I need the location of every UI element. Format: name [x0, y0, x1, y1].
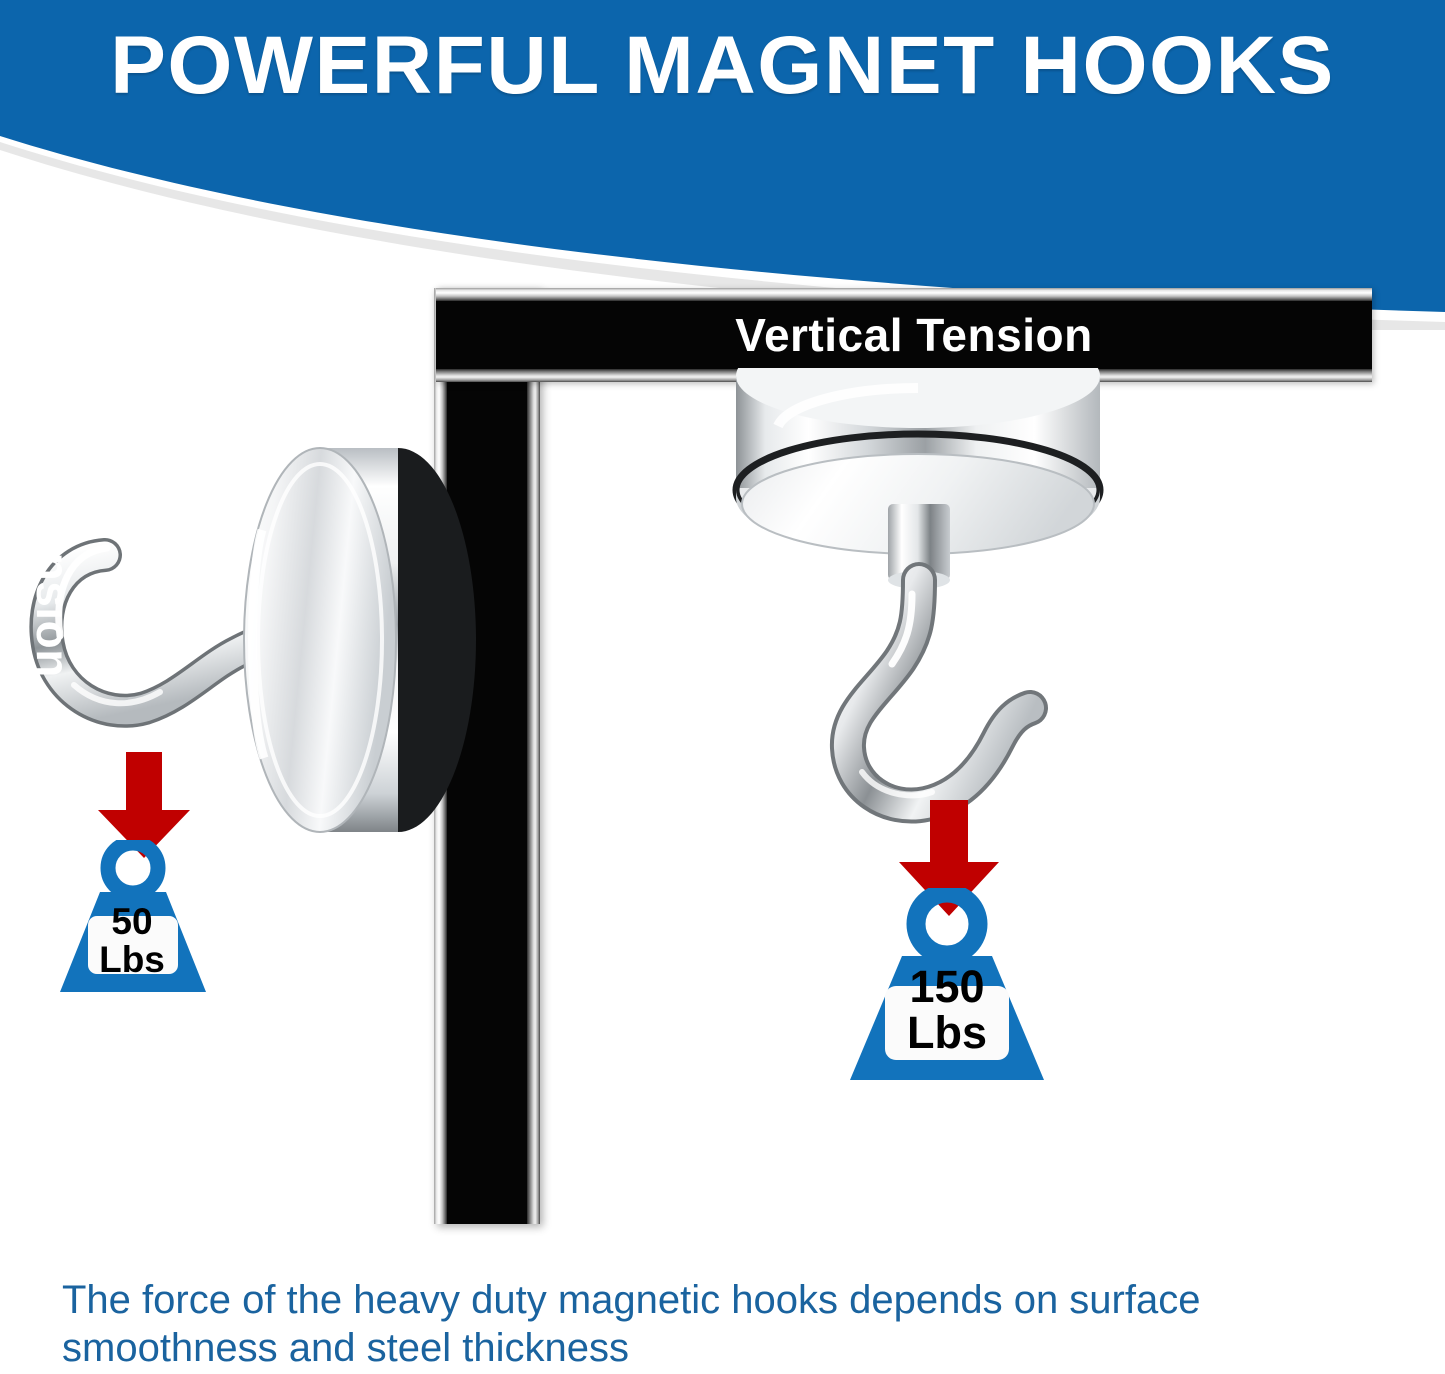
- left-weight-badge: 50 Lbs: [42, 840, 224, 1005]
- product-infographic: POWERFUL MAGNET HOOKS: [0, 0, 1445, 1374]
- footer-caption: The force of the heavy duty magnetic hoo…: [62, 1276, 1392, 1372]
- left-weight-text: 50 Lbs: [72, 898, 192, 984]
- right-weight-unit: Lbs: [907, 1010, 987, 1056]
- right-weight-badge: 150 Lbs: [828, 888, 1066, 1093]
- left-magnet-disc: [244, 448, 476, 832]
- right-weight-value: 150: [909, 964, 984, 1010]
- left-magnet-hook-assembly: [10, 440, 480, 865]
- right-weight-text: 150 Lbs: [871, 958, 1023, 1062]
- left-weight-value: 50: [111, 903, 152, 941]
- post-edge-right-highlight: [527, 288, 540, 1224]
- right-magnet-hook-assembly: [718, 368, 1118, 843]
- right-hook-wire: [848, 580, 1030, 806]
- diagram-scene: Vertical Tension Horizontal Tension: [0, 0, 1445, 1260]
- left-weight-unit: Lbs: [99, 941, 165, 979]
